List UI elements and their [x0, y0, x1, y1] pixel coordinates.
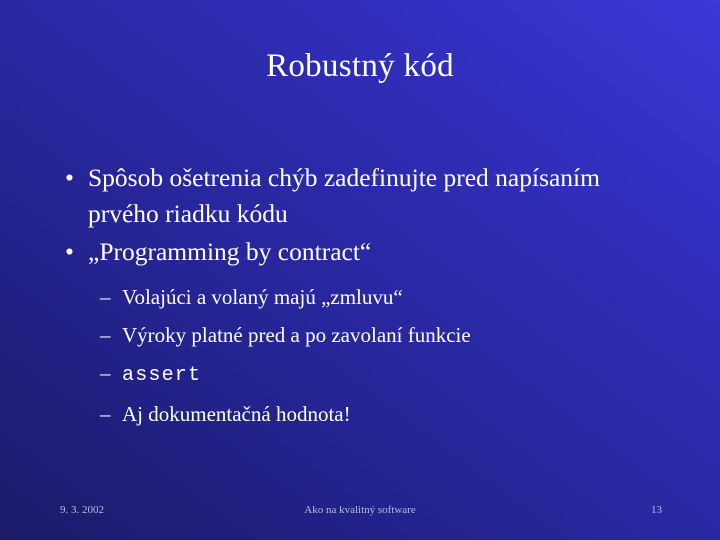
sub-bullet-text: Výroky platné pred a po zavolaní funkcie	[122, 323, 471, 347]
bullet-dash-icon: –	[100, 278, 111, 316]
footer-title: Ako na kvalitný software	[0, 502, 720, 518]
presentation-slide: Robustný kód • Spôsob ošetrenia chýb zad…	[0, 0, 720, 540]
sub-bullet-text: Aj dokumentačná hodnota!	[122, 402, 351, 426]
bullet-item-2: • „Programming by contract“	[56, 234, 666, 270]
bullet-text: „Programming by contract“	[88, 234, 666, 270]
bullet-dash-icon: –	[100, 395, 111, 433]
sub-bullet-item-3: – assert	[56, 354, 666, 395]
sub-bullet-code-text: assert	[122, 364, 201, 387]
bullet-dash-icon: –	[100, 354, 111, 392]
sub-bullet-item-4: – Aj dokumentačná hodnota!	[56, 395, 666, 433]
bullet-dash-icon: –	[100, 316, 111, 354]
slide-title: Robustný kód	[0, 46, 720, 86]
bullet-dot-icon: •	[65, 160, 74, 196]
slide-footer: 9. 3. 2002 Ako na kvalitný software 13	[0, 502, 720, 518]
sub-bullet-list: – Volajúci a volaný majú „zmluvu“ – Výro…	[56, 278, 666, 433]
sub-bullet-item-2: – Výroky platné pred a po zavolaní funkc…	[56, 316, 666, 354]
bullet-item-1: • Spôsob ošetrenia chýb zadefinujte pred…	[56, 160, 666, 232]
slide-body: • Spôsob ošetrenia chýb zadefinujte pred…	[56, 160, 666, 433]
footer-page-number: 13	[651, 502, 662, 518]
sub-bullet-text: Volajúci a volaný majú „zmluvu“	[122, 285, 403, 309]
sub-bullet-item-1: – Volajúci a volaný majú „zmluvu“	[56, 278, 666, 316]
bullet-dot-icon: •	[65, 234, 74, 270]
bullet-text: Spôsob ošetrenia chýb zadefinujte pred n…	[88, 160, 666, 232]
